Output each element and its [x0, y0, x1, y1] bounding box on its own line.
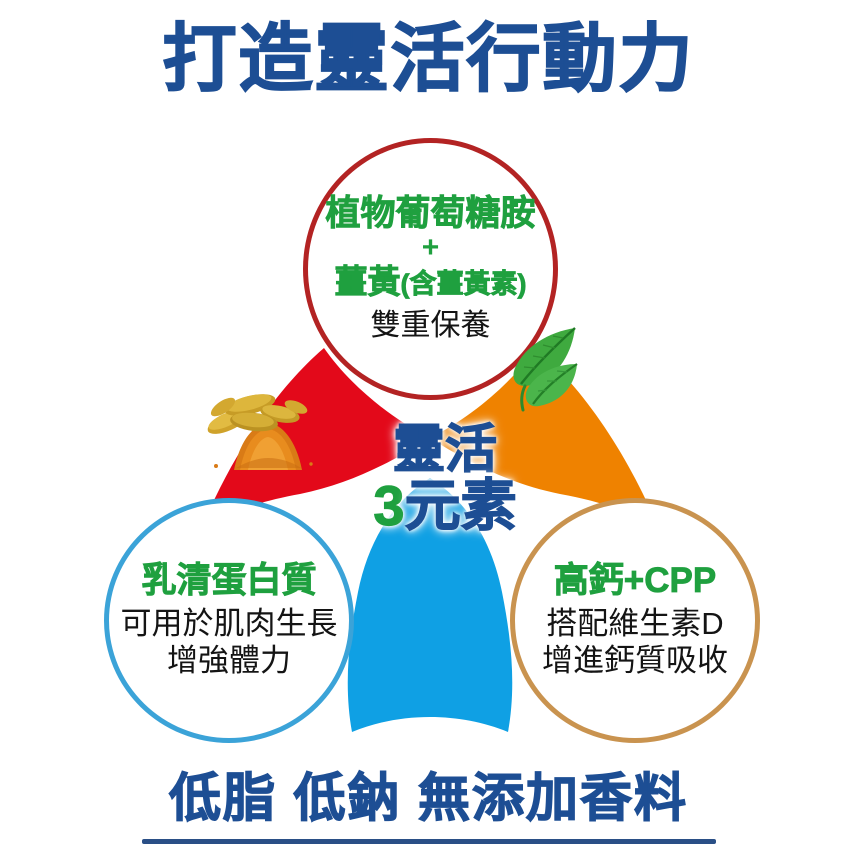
node-top-heading2: 薑黃(含薑黃素): [335, 264, 527, 300]
node-left-heading: 乳清蛋白質: [141, 562, 316, 600]
node-right-subtitle-line1: 搭配維生素D: [546, 606, 723, 643]
node-left-subtitle-line2: 增強體力: [167, 643, 291, 680]
circle-node-left[interactable]: 乳清蛋白質 可用於肌肉生長 增強體力: [104, 498, 354, 743]
node-top-heading: 植物葡萄糖胺: [325, 195, 535, 233]
footer-underline: [142, 839, 716, 844]
node-right-heading: 高鈣+CPP: [554, 562, 716, 600]
node-top-heading2-main: 薑黃: [335, 263, 401, 300]
circle-node-top[interactable]: 植物葡萄糖胺 + 薑黃(含薑黃素) 雙重保養: [303, 138, 558, 400]
three-element-diagram: 植物葡萄糖胺 + 薑黃(含薑黃素) 雙重保養: [0, 128, 857, 748]
infographic-poster: 打造靈活行動力 植物葡萄糖胺 + 薑黃(含薑黃素) 雙重保養: [0, 0, 857, 857]
footer-text: 低脂 低鈉 無添加香料: [169, 756, 688, 837]
footer-banner: 低脂 低鈉 無添加香料: [0, 756, 857, 844]
circle-node-right[interactable]: 高鈣+CPP 搭配維生素D 增進鈣質吸收: [510, 498, 760, 743]
node-left-subtitle-line1: 可用於肌肉生長: [121, 606, 338, 643]
node-top-plus: +: [422, 233, 440, 263]
node-right-subtitle-line2: 增進鈣質吸收: [542, 643, 728, 680]
node-top-heading2-paren: (含薑黃素): [401, 269, 527, 299]
node-top-subtitle: 雙重保養: [371, 308, 491, 343]
page-title: 打造靈活行動力: [0, 18, 857, 101]
petal-blue: [348, 478, 513, 732]
